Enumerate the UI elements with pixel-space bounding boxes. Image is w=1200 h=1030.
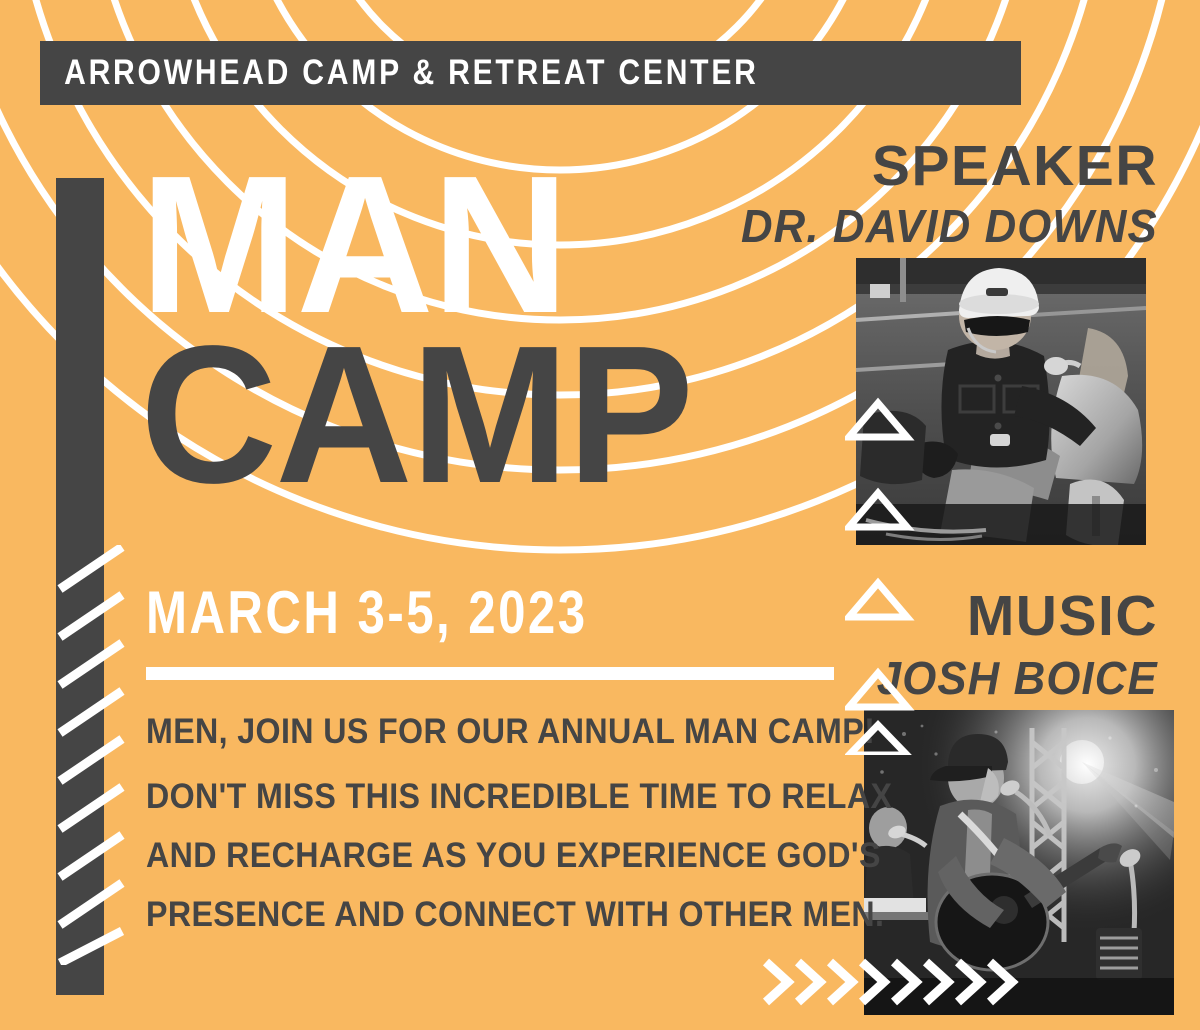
man-camp-poster: ARROWHEAD CAMP & RETREAT CENTER MAN CAMP… xyxy=(0,0,1200,1030)
body-line: PRESENCE AND CONNECT WITH OTHER MEN. xyxy=(146,897,808,932)
speaker-role-label: SPEAKER xyxy=(719,138,1158,195)
organization-name: ARROWHEAD CAMP & RETREAT CENTER xyxy=(40,53,759,93)
body-line: MEN, JOIN US FOR OUR ANNUAL MAN CAMP! xyxy=(146,714,808,749)
title-line-camp: CAMP xyxy=(140,325,692,505)
speaker-photo xyxy=(856,258,1146,545)
body-line: DON'T MISS THIS INCREDIBLE TIME TO RELAX xyxy=(146,779,808,814)
body-copy: MEN, JOIN US FOR OUR ANNUAL MAN CAMP! DO… xyxy=(146,714,866,932)
music-artist-name: JOSH BOICE xyxy=(877,655,1158,701)
left-accent-bar xyxy=(56,178,104,995)
music-credit: MUSIC JOSH BOICE xyxy=(862,588,1158,701)
event-title: MAN CAMP xyxy=(140,155,709,506)
organization-header-bar: ARROWHEAD CAMP & RETREAT CENTER xyxy=(40,41,1021,105)
speaker-credit: SPEAKER DR. DAVID DOWNS xyxy=(719,138,1158,249)
event-date: MARCH 3-5, 2023 xyxy=(146,578,588,647)
body-line: AND RECHARGE AS YOU EXPERIENCE GOD'S xyxy=(146,838,808,873)
paragraph-spacer xyxy=(146,749,866,779)
speaker-name: DR. DAVID DOWNS xyxy=(741,203,1158,249)
divider-rule xyxy=(146,667,834,680)
music-role-label: MUSIC xyxy=(862,588,1158,645)
music-photo xyxy=(864,710,1174,1015)
